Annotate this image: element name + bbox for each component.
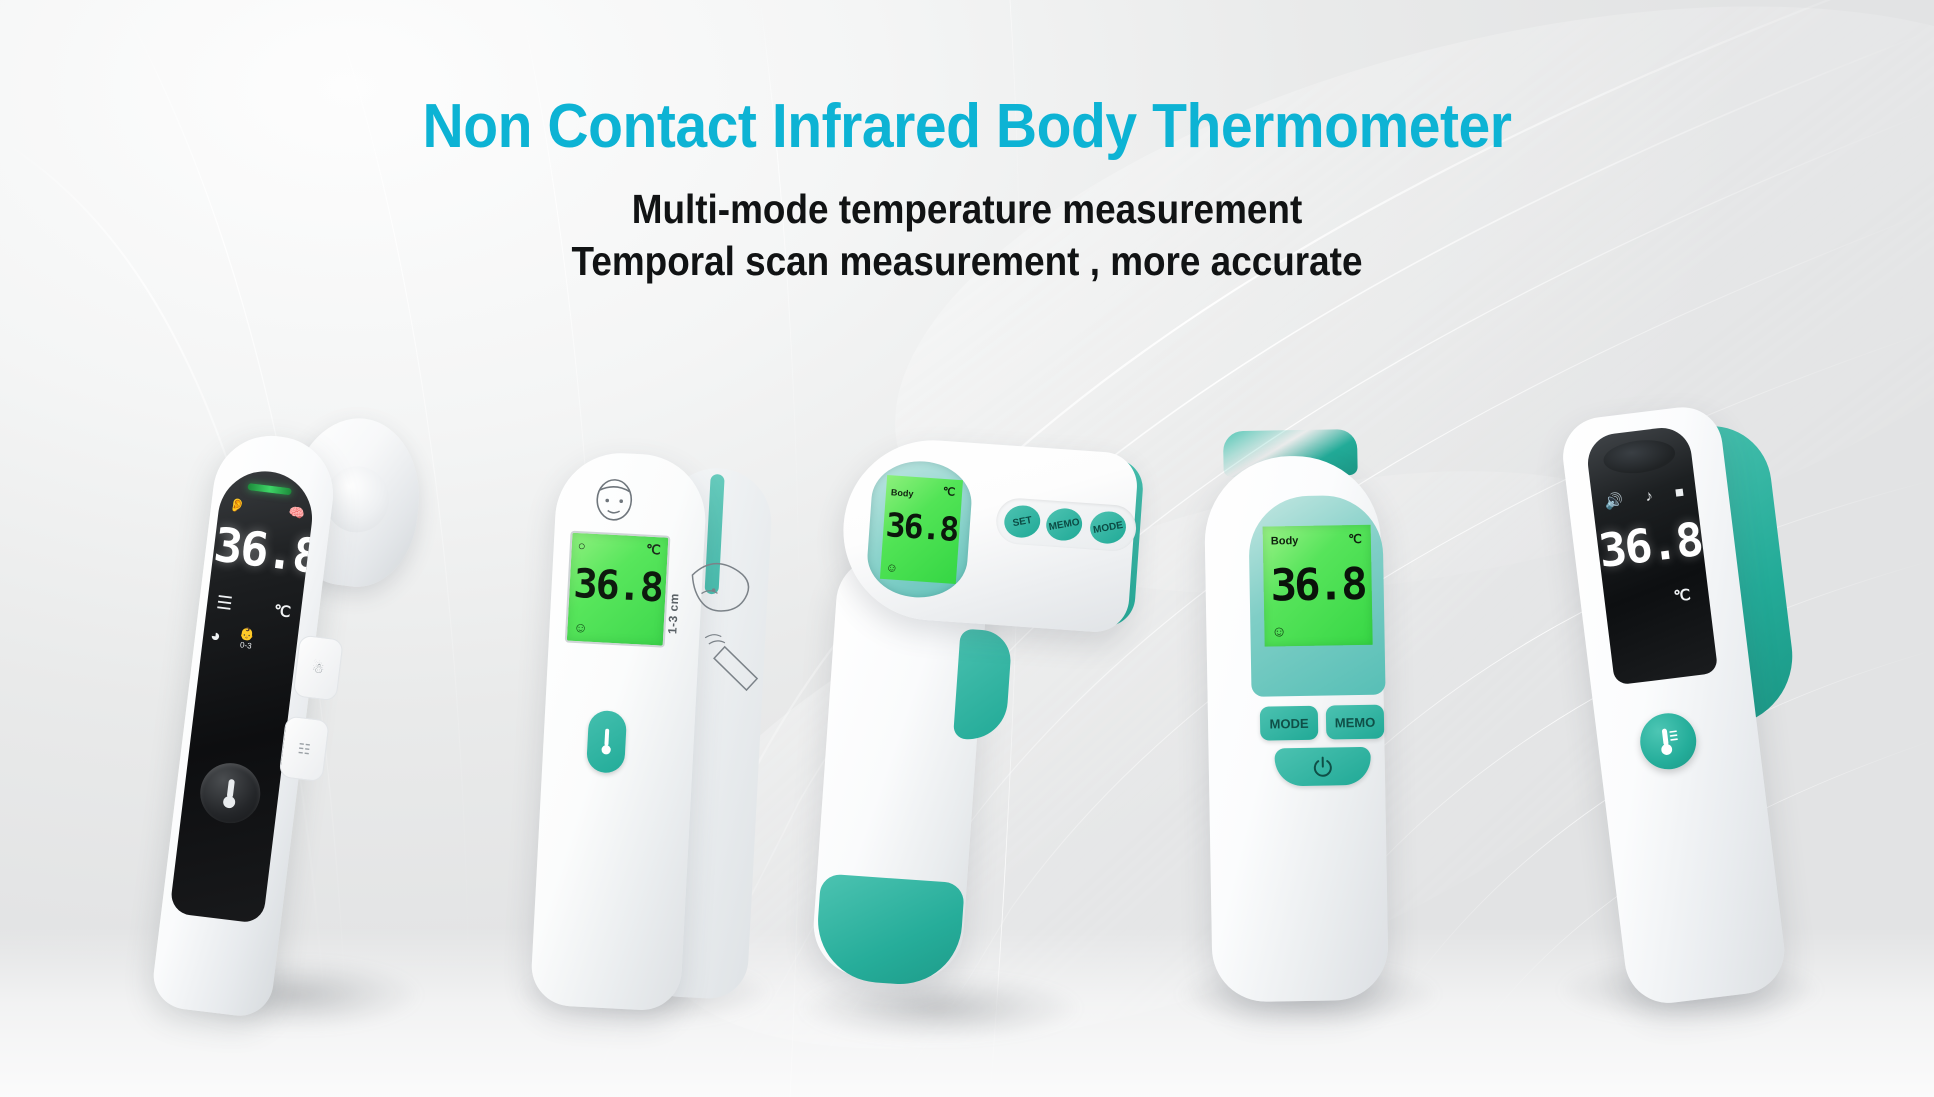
device-3-trigger-button[interactable] <box>953 629 1013 742</box>
device-4-body: Body ℃ 36.8 ☺ MODE MEMO <box>1203 455 1388 1003</box>
device-5-sensor-lens <box>1602 436 1677 477</box>
status-bar-indicator <box>247 483 292 495</box>
device-4-reading: 36.8 <box>1263 559 1372 612</box>
wifi-icon: ◕ <box>209 626 222 647</box>
device-3-mode-label: Body <box>891 487 914 499</box>
headline-block: Non Contact Infrared Body Thermometer Mu… <box>0 96 1934 287</box>
device-4-memo-button[interactable]: MEMO <box>1326 705 1385 740</box>
device-3-mode-button[interactable]: MODE <box>1088 509 1129 547</box>
smiley-icon: ☺ <box>885 560 898 575</box>
device-5-display: 🔊 ♪ ■ 36.8 ℃ <box>1585 425 1719 686</box>
device-1-reading: 36.8 <box>211 518 311 584</box>
device-4-display-panel: Body ℃ 36.8 ☺ <box>1248 495 1385 697</box>
baby-icon: 👶 0-3 <box>238 627 256 651</box>
device-2-body: ○ ℃ 36.8 ☺ <box>530 450 709 1012</box>
device-3-display: Body ℃ 36.8 ☺ <box>880 475 963 584</box>
smiley-icon: ☺ <box>1271 623 1287 640</box>
device-3-memo-button[interactable]: MEMO <box>1044 506 1085 544</box>
subtitle-line-1: Multi-mode temperature measurement <box>97 184 1838 236</box>
thermometer-icon <box>219 775 241 811</box>
mute-icon: ♪ <box>1644 487 1654 506</box>
battery-icon: ■ <box>1674 484 1685 503</box>
device-2-unit: ℃ <box>646 542 661 559</box>
device-3-button-row: SET MEMO MODE <box>995 497 1138 553</box>
ear-mode-icon: 👂 <box>228 497 246 515</box>
device-4-display: Body ℃ 36.8 ☺ <box>1263 525 1373 647</box>
device-3-base <box>814 873 965 988</box>
device-2-display: ○ ℃ 36.8 ☺ <box>565 531 671 648</box>
page-subtitle: Multi-mode temperature measurement Tempo… <box>97 184 1838 287</box>
product-image-forehead-pen-thermometer: ○ ℃ 36.8 ☺ 1-3 cm <box>520 449 779 1020</box>
device-3-display-frame: Body ℃ 36.8 ☺ <box>865 458 974 601</box>
device-2-measure-button[interactable] <box>586 710 627 774</box>
device-5-reading: 36.8 <box>1595 512 1705 578</box>
device-3-barrel: Body ℃ 36.8 ☺ SET MEMO MODE <box>837 434 1139 634</box>
device-4-mode-button[interactable]: MODE <box>1260 706 1319 741</box>
page-title: Non Contact Infrared Body Thermometer <box>77 96 1856 158</box>
face-scan-icon <box>587 476 641 525</box>
device-3-unit: ℃ <box>942 485 955 499</box>
device-1-memory-side-button[interactable]: ☷ <box>279 715 330 782</box>
device-2-reading: 36.8 <box>569 561 667 612</box>
sound-on-icon: 🔊 <box>1604 491 1625 511</box>
thermometer-icon <box>600 726 614 757</box>
device-5-status-icons: 🔊 ♪ ■ <box>1604 484 1686 512</box>
thermometer-icon <box>1656 724 1680 758</box>
power-icon <box>1311 754 1335 778</box>
device-5-measure-button[interactable] <box>1637 710 1699 772</box>
device-3-set-button[interactable]: SET <box>1002 503 1043 541</box>
forehead-mode-icon: 🧠 <box>288 504 306 522</box>
device-4-unit: ℃ <box>1348 532 1362 546</box>
subtitle-line-2: Temporal scan measurement , more accurat… <box>97 236 1838 288</box>
device-1-unit: ℃ <box>273 601 292 621</box>
product-image-gun-style-infrared-thermometer: Body ℃ 36.8 ☺ SET MEMO MODE <box>799 433 1187 1016</box>
device-5-unit: ℃ <box>1673 586 1692 606</box>
ring-icon: ○ <box>577 538 586 553</box>
device-4-power-button[interactable] <box>1274 747 1371 787</box>
device-1-mode-icons: 👂 🧠 <box>228 497 305 522</box>
product-banner: Non Contact Infrared Body Thermometer Mu… <box>0 0 1934 1097</box>
bluetooth-icon: ☰ <box>215 592 234 615</box>
device-3-reading: 36.8 <box>882 505 961 549</box>
forehead-scan-diagram <box>672 544 770 699</box>
device-2-distance-label: 1-3 cm <box>665 593 681 635</box>
product-image-teal-cap-oval-thermometer: Body ℃ 36.8 ☺ MODE MEMO <box>1181 428 1421 1012</box>
device-1-age-range: 0-3 <box>238 641 254 651</box>
smiley-icon: ☺ <box>573 619 588 636</box>
device-4-mode-label: Body <box>1271 535 1299 547</box>
device-1-mode-side-button[interactable]: ☃ <box>293 634 344 701</box>
